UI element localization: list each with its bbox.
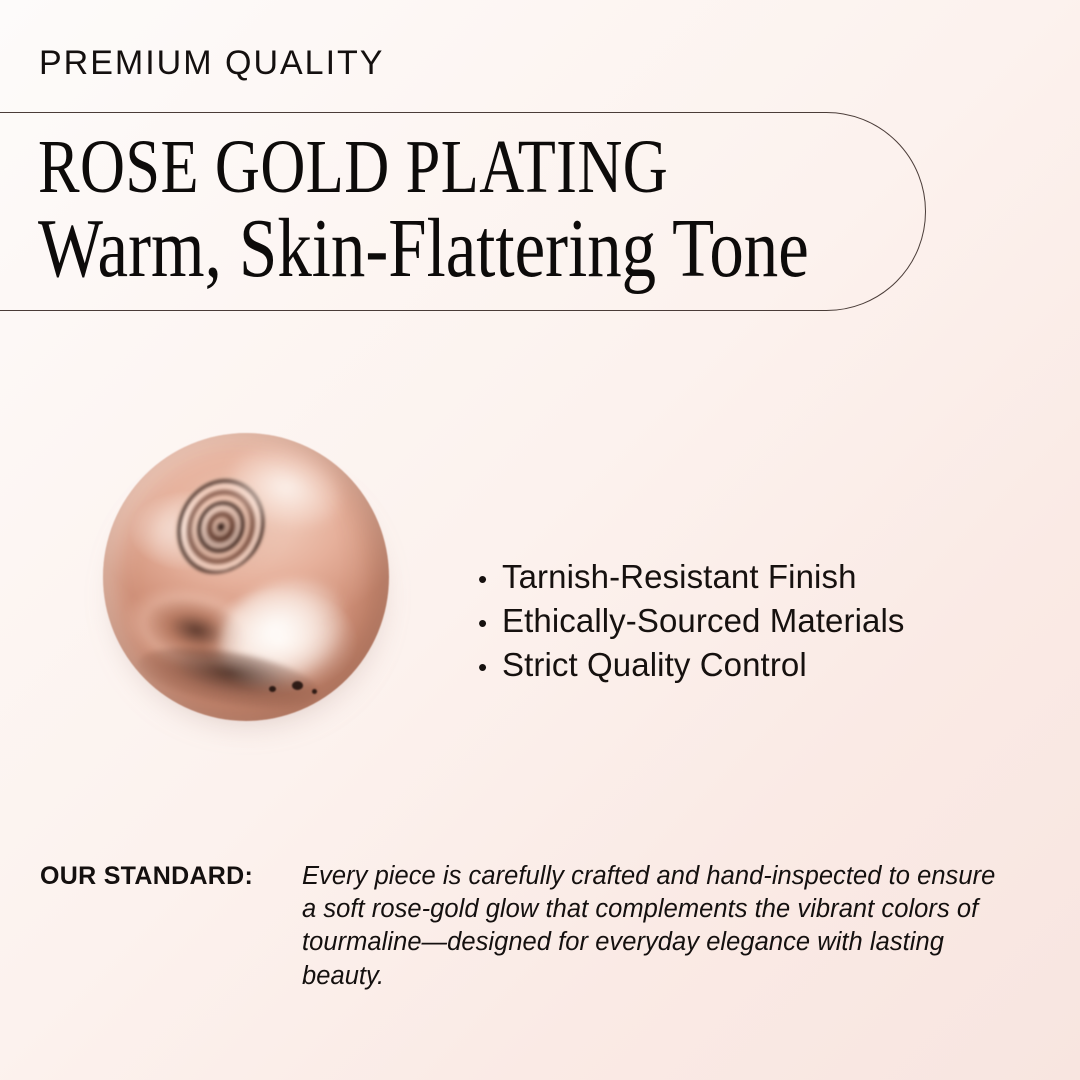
standard-body: Every piece is carefully crafted and han… xyxy=(302,860,1002,993)
list-item: • Tarnish-Resistant Finish xyxy=(478,556,905,600)
feature-label: Ethically-Sourced Materials xyxy=(502,600,905,642)
page-subtitle: Warm, Skin-Flattering Tone xyxy=(38,208,733,290)
standard-label: OUR STANDARD: xyxy=(40,862,253,891)
promo-poster: PREMIUM QUALITY ROSE GOLD PLATING Warm, … xyxy=(0,0,1080,1080)
feature-label: Strict Quality Control xyxy=(502,644,807,686)
bullet-icon: • xyxy=(478,646,502,688)
orb-sphere xyxy=(103,433,389,721)
feature-list: • Tarnish-Resistant Finish • Ethically-S… xyxy=(478,556,905,688)
page-title: ROSE GOLD PLATING xyxy=(38,130,733,204)
rose-gold-orb xyxy=(103,433,389,721)
kicker-text: PREMIUM QUALITY xyxy=(39,46,384,80)
orb-rim-light xyxy=(103,433,389,721)
feature-label: Tarnish-Resistant Finish xyxy=(502,556,857,598)
bullet-icon: • xyxy=(478,558,502,600)
list-item: • Strict Quality Control xyxy=(478,644,905,688)
bullet-icon: • xyxy=(478,602,502,644)
list-item: • Ethically-Sourced Materials xyxy=(478,600,905,644)
title-capsule: ROSE GOLD PLATING Warm, Skin-Flattering … xyxy=(0,112,926,311)
title-block: ROSE GOLD PLATING Warm, Skin-Flattering … xyxy=(38,130,885,291)
